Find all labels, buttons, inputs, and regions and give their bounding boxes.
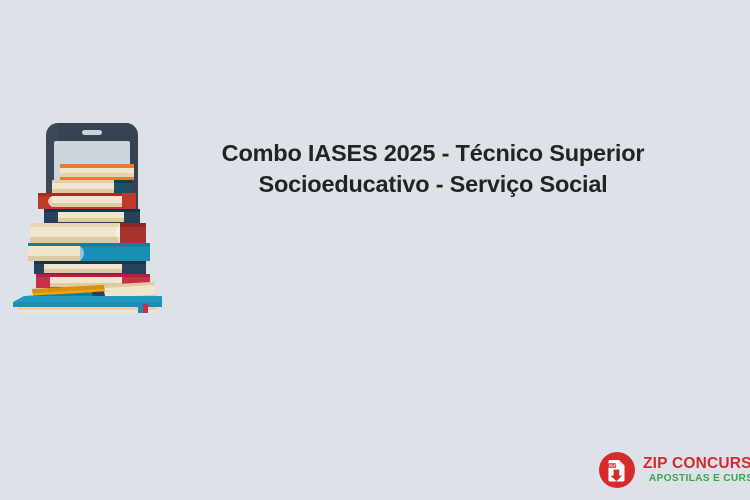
pdf-download-icon: PDF <box>598 451 636 489</box>
brand-tagline: APOSTILAS E CURSOS <box>643 472 750 485</box>
book-cream-teal <box>52 180 132 193</box>
svg-text:PDF: PDF <box>609 464 617 468</box>
brand-name: ZIP CONCURSOS <box>643 455 750 472</box>
brand-logo[interactable]: PDF ZIP CONCURSOS APOSTILAS E CURSOS <box>598 450 738 490</box>
book-orange-top <box>60 164 134 180</box>
product-thumbnail-card: Combo IASES 2025 - Técnico Superior Soci… <box>0 0 750 500</box>
product-title-line-1: Combo IASES 2025 - Técnico Superior <box>196 138 670 169</box>
book-blue-mid <box>28 243 150 261</box>
book-stack-illustration <box>8 118 183 313</box>
product-title: Combo IASES 2025 - Técnico Superior Soci… <box>196 138 670 200</box>
book-red-mid-upper <box>38 193 136 209</box>
book-navy-upper <box>44 209 140 223</box>
book-teal-bottom <box>13 296 162 313</box>
brand-text-block: ZIP CONCURSOS APOSTILAS E CURSOS <box>643 455 750 485</box>
product-title-line-2: Socioeducativo - Serviço Social <box>196 169 670 200</box>
book-navy-lower <box>34 261 146 274</box>
book-cream-large <box>30 223 146 243</box>
